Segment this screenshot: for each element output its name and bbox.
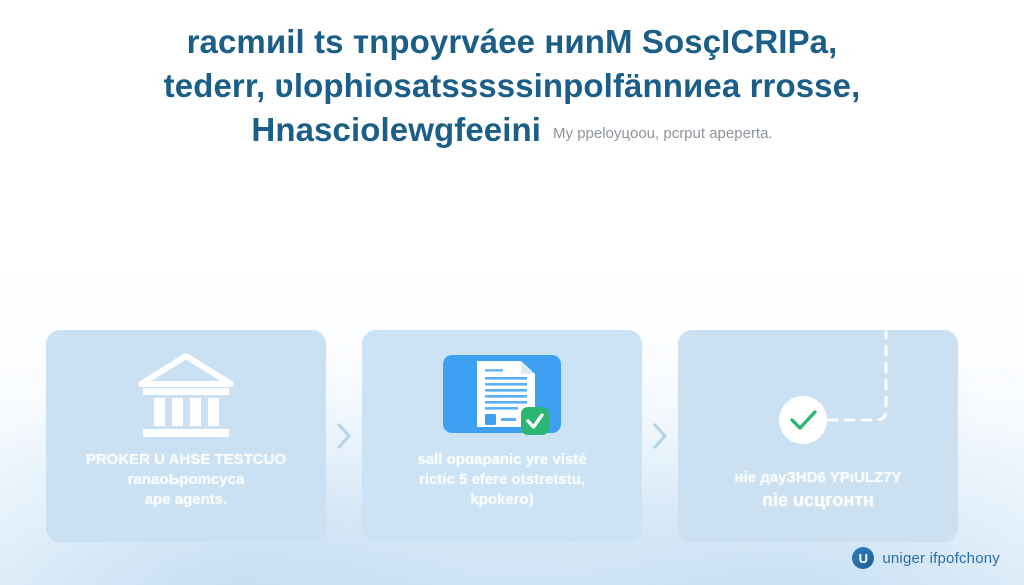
- caption-line: ape agents.: [64, 490, 308, 510]
- steps-row: PROKER U AHSE TESTCUO ranaoЬpomcyca ape …: [46, 330, 978, 542]
- headline-line-1: racmиil ts тnpoyrváee ниnM SosçICRIPa,: [0, 20, 1024, 64]
- caption-line: піе ucцгонтн: [696, 488, 940, 512]
- brand-logo-glyph: U: [859, 552, 868, 565]
- caption-line: rictic 5 efere otstretstu,: [380, 470, 624, 490]
- verified-document-icon: [362, 330, 642, 450]
- headline-line-3: HnasciolewgfeeiniМy ppeloyцoou, pcrput a…: [0, 108, 1024, 159]
- brand-logo-icon: U: [852, 547, 874, 569]
- bank-institution-icon: [46, 330, 326, 450]
- step-card-1[interactable]: PROKER U AHSE TESTCUO ranaoЬpomcyca ape …: [46, 330, 326, 542]
- caption-line: PROKER U AHSE TESTCUO: [64, 450, 308, 470]
- brand-name: uniger ifpofchony: [882, 550, 1000, 567]
- chevron-right-icon: [642, 421, 678, 451]
- headline-line-2: tederr, ʋlophiosatsssssinpolfännиea rros…: [0, 64, 1024, 108]
- step-card-3[interactable]: ніе дaуЗHD6 YPιULZ7Y піе ucцгонтн: [678, 330, 958, 542]
- caption-line: ніе дaуЗHD6 YPιULZ7Y: [696, 468, 940, 488]
- step-card-2[interactable]: sall opɑapanic yre visté rictic 5 efere …: [362, 330, 642, 542]
- page-title: racmиil ts тnpoyrváee ниnM SosçICRIPa, t…: [0, 20, 1024, 159]
- check-circle-path-icon: [678, 330, 958, 468]
- brand-footer: U uniger ifpofchony: [852, 547, 1000, 569]
- slide-canvas: racmиil ts тnpoyrváee ниnM SosçICRIPa, t…: [0, 0, 1024, 585]
- headline-line-3-main: Hnasciolewgfeeini: [251, 111, 541, 148]
- caption-line: kpokero): [380, 490, 624, 510]
- caption-line: sall opɑapanic yre visté: [380, 450, 624, 470]
- step-card-3-caption: ніе дaуЗHD6 YPιULZ7Y піе ucцгонтн: [678, 468, 958, 512]
- headline-subtitle: Мy ppeloyцoou, pcrput aрeperta.: [553, 125, 773, 142]
- step-card-1-caption: PROKER U AHSE TESTCUO ranaoЬpomcyca ape …: [46, 450, 326, 510]
- caption-line: ranaoЬpomcyca: [64, 470, 308, 490]
- step-card-2-caption: sall opɑapanic yre visté rictic 5 efere …: [362, 450, 642, 510]
- chevron-right-icon: [326, 421, 362, 451]
